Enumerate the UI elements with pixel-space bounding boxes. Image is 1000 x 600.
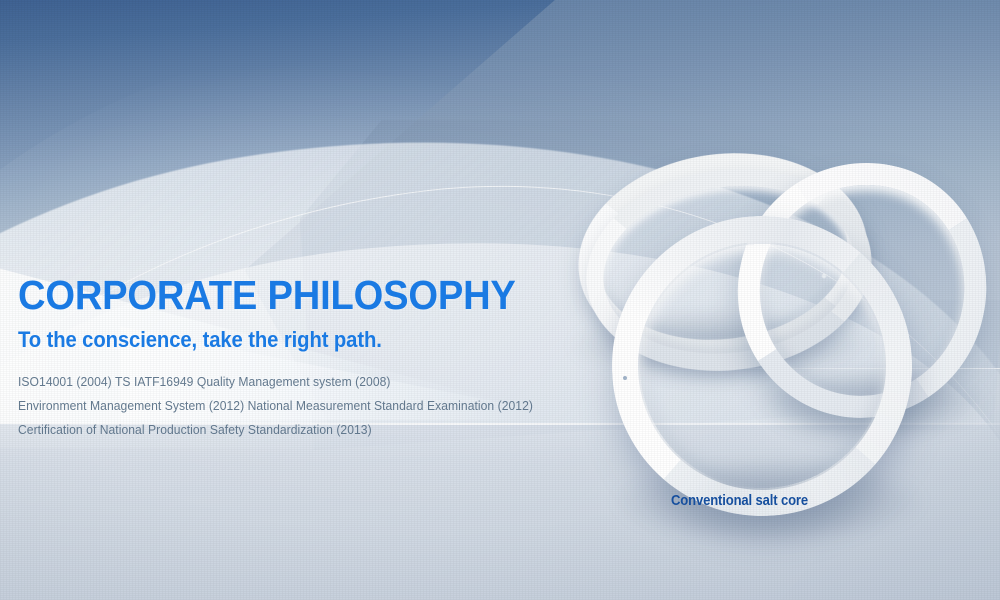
corporate-philosophy-banner: CORPORATE PHILOSOPHY To the conscience, … <box>0 0 1000 600</box>
page-subtitle: To the conscience, take the right path. <box>18 327 607 353</box>
certification-line: Certification of National Production Saf… <box>18 423 639 438</box>
certification-list: ISO14001 (2004) TS IATF16949 Quality Man… <box>18 375 658 438</box>
certification-line: Environment Management System (2012) Nat… <box>18 399 639 414</box>
certification-line: ISO14001 (2004) TS IATF16949 Quality Man… <box>18 375 639 390</box>
page-title: CORPORATE PHILOSOPHY <box>18 272 613 318</box>
product-caption: Conventional salt core <box>671 492 808 510</box>
headline-block: CORPORATE PHILOSOPHY To the conscience, … <box>18 272 658 447</box>
ring-pin-hole-right <box>822 274 826 278</box>
